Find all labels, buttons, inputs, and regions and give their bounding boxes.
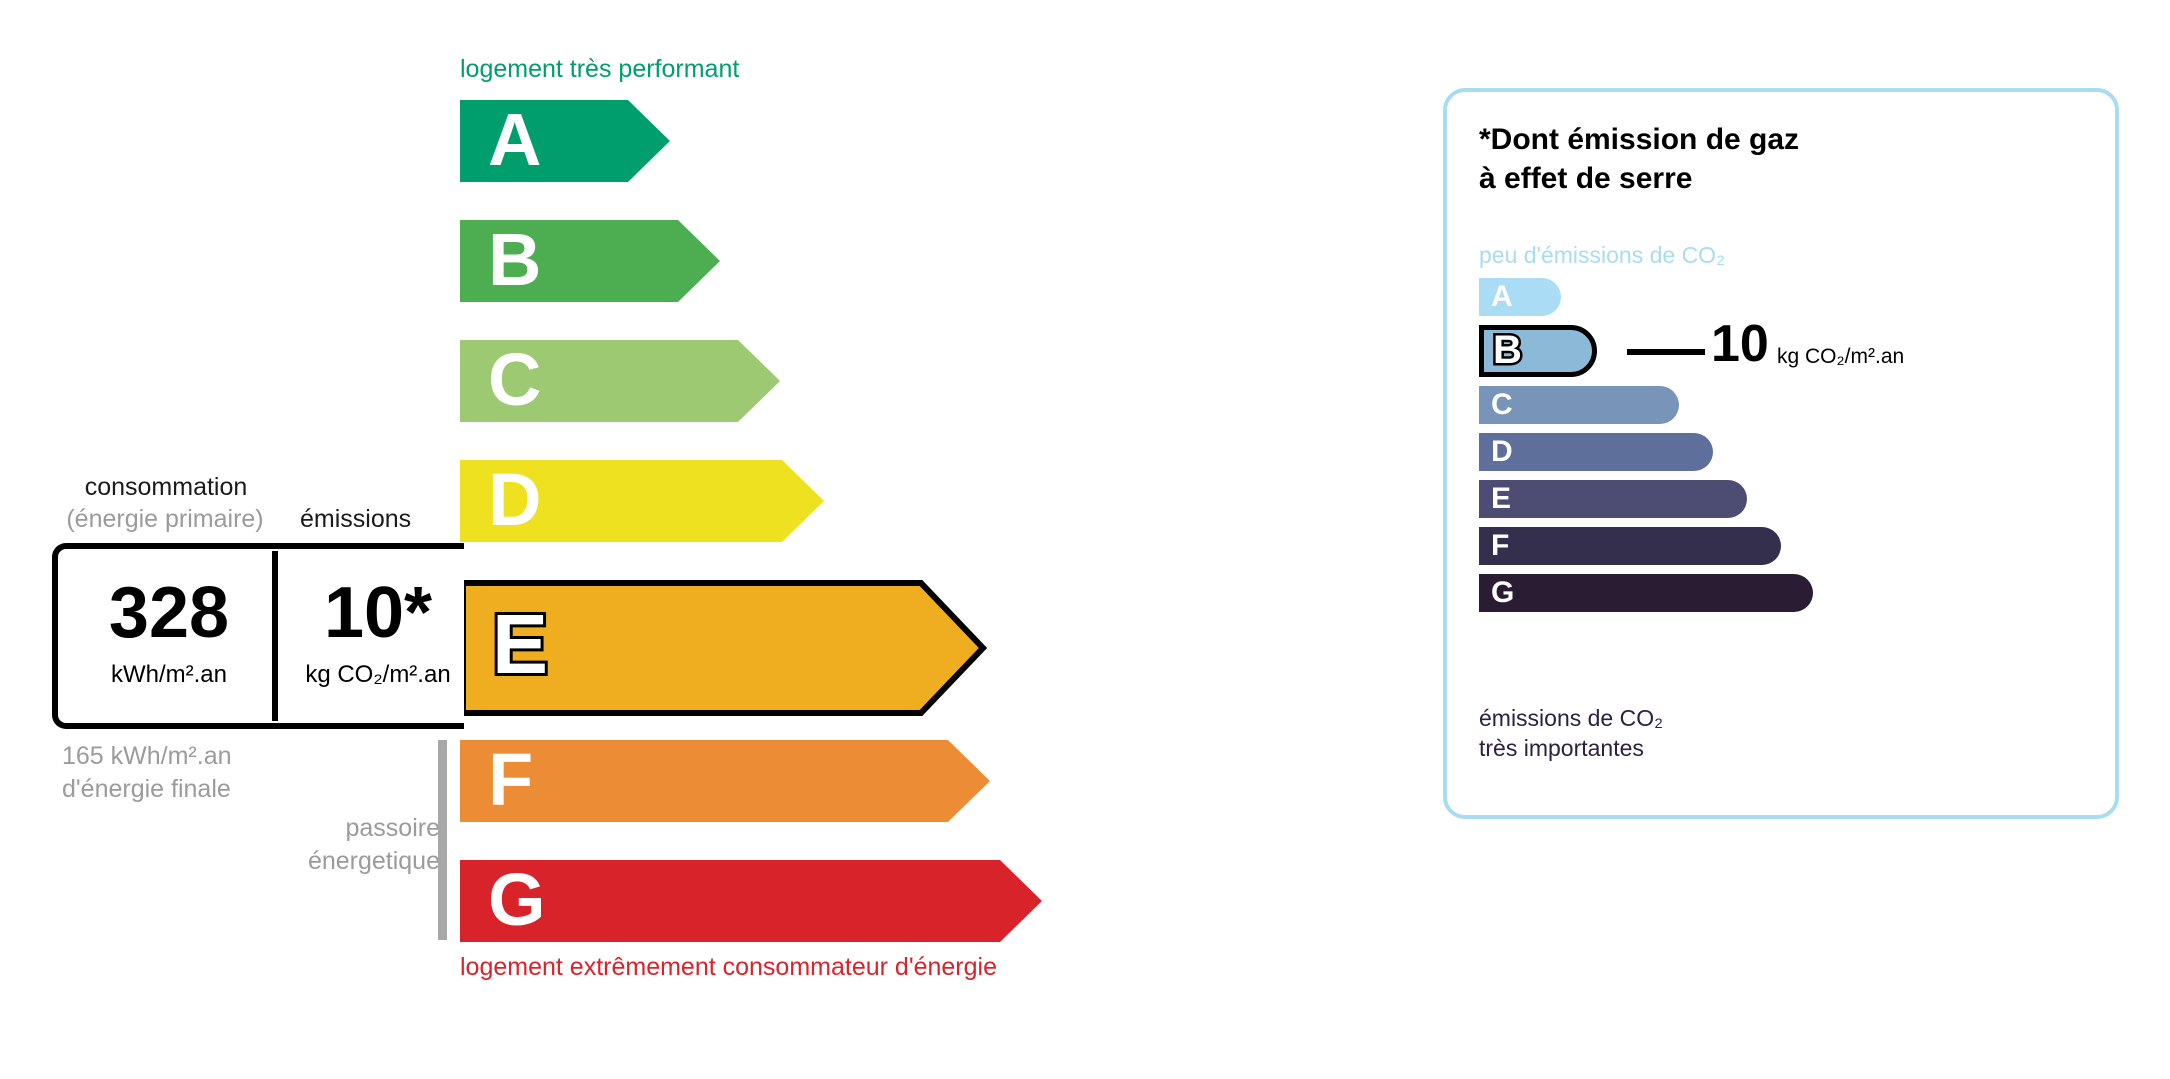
energy-class-row-f: F <box>460 740 1002 834</box>
co2-class-letter-a: A <box>1491 281 1513 313</box>
co2-class-letter-d: D <box>1491 436 1513 468</box>
value-box: 328 kWh/m².an 10* kg CO₂/m².an <box>52 543 464 729</box>
energy-class-letter-b: B <box>488 223 541 297</box>
co2-bottom-line1: émissions de CO₂ <box>1479 705 1663 731</box>
consumption-sublabel: (énergie primaire) <box>42 505 288 534</box>
energy-class-letter-f: F <box>488 743 533 817</box>
energy-class-letter-c: C <box>488 343 541 417</box>
scale-top-caption: logement très performant <box>460 55 739 84</box>
passoire-bracket-bar <box>438 740 447 940</box>
co2-class-letter-g: G <box>1491 577 1514 609</box>
energy-value: 328 <box>58 577 280 649</box>
energy-bar-shape-g <box>460 860 1054 954</box>
energy-class-letter-d: D <box>488 463 541 537</box>
energy-class-row-e: E <box>460 580 992 722</box>
co2-bar-g <box>1479 574 1813 612</box>
energy-class-bar-chart: ABCDEFG <box>460 100 1360 940</box>
passoire-energetique-note: passoire énergetique <box>250 812 440 878</box>
co2-top-caption: peu d'émissions de CO₂ <box>1479 242 1725 269</box>
co2-bottom-caption: émissions de CO₂ très importantes <box>1479 704 1663 764</box>
co2-callout-unit: kg CO₂/m².an <box>1777 345 1904 369</box>
energy-class-letter-g: G <box>488 863 546 937</box>
co2-value: 10* <box>286 577 470 649</box>
scale-bottom-caption: logement extrêmement consommateur d'éner… <box>460 953 997 982</box>
energy-class-row-d: D <box>460 460 836 554</box>
energy-unit: kWh/m².an <box>58 661 280 689</box>
co2-class-letter-b: B <box>1493 329 1522 371</box>
co2-value-leader-line <box>1627 349 1705 355</box>
emissions-label: émissions <box>300 505 411 534</box>
final-energy-line2: d'énergie finale <box>62 775 231 803</box>
energy-class-letter-e: E <box>492 602 548 686</box>
energy-bar-shape-f <box>460 740 1002 834</box>
dpe-energy-scale-panel: logement très performant ABCDEFG consomm… <box>0 0 1400 1079</box>
co2-bar-d <box>1479 433 1713 471</box>
co2-bar-f <box>1479 527 1781 565</box>
final-energy-line1: 165 kWh/m².an <box>62 742 232 770</box>
co2-emissions-panel: *Dont émission de gaz à effet de serre p… <box>1443 88 2119 819</box>
co2-class-letter-e: E <box>1491 483 1511 515</box>
passoire-line2: énergetique <box>308 847 440 875</box>
energy-class-row-b: B <box>460 220 732 314</box>
co2-title-line1: *Dont émission de gaz <box>1479 123 1799 156</box>
co2-title-line2: à effet de serre <box>1479 162 1692 195</box>
energy-class-row-g: G <box>460 860 1054 954</box>
co2-callout-value: 10 <box>1711 318 1769 370</box>
energy-class-row-a: A <box>460 100 682 194</box>
co2-unit: kg CO₂/m².an <box>286 661 470 689</box>
co2-panel-title: *Dont émission de gaz à effet de serre <box>1479 120 1799 198</box>
energy-class-letter-a: A <box>488 103 541 177</box>
co2-value-cell: 10* kg CO₂/m².an <box>286 549 470 723</box>
co2-bar-e <box>1479 480 1747 518</box>
co2-bottom-line2: très importantes <box>1479 735 1644 761</box>
consumption-label: consommation <box>60 473 272 502</box>
final-energy-note: 165 kWh/m².an d'énergie finale <box>62 740 232 806</box>
value-box-divider <box>272 551 278 721</box>
dpe-energy-label-screenshot: logement très performant ABCDEFG consomm… <box>0 0 2170 1079</box>
energy-class-row-c: C <box>460 340 792 434</box>
passoire-line1: passoire <box>346 814 441 842</box>
co2-class-letter-c: C <box>1491 389 1513 421</box>
energy-value-cell: 328 kWh/m².an <box>58 549 280 723</box>
co2-class-letter-f: F <box>1491 530 1509 562</box>
